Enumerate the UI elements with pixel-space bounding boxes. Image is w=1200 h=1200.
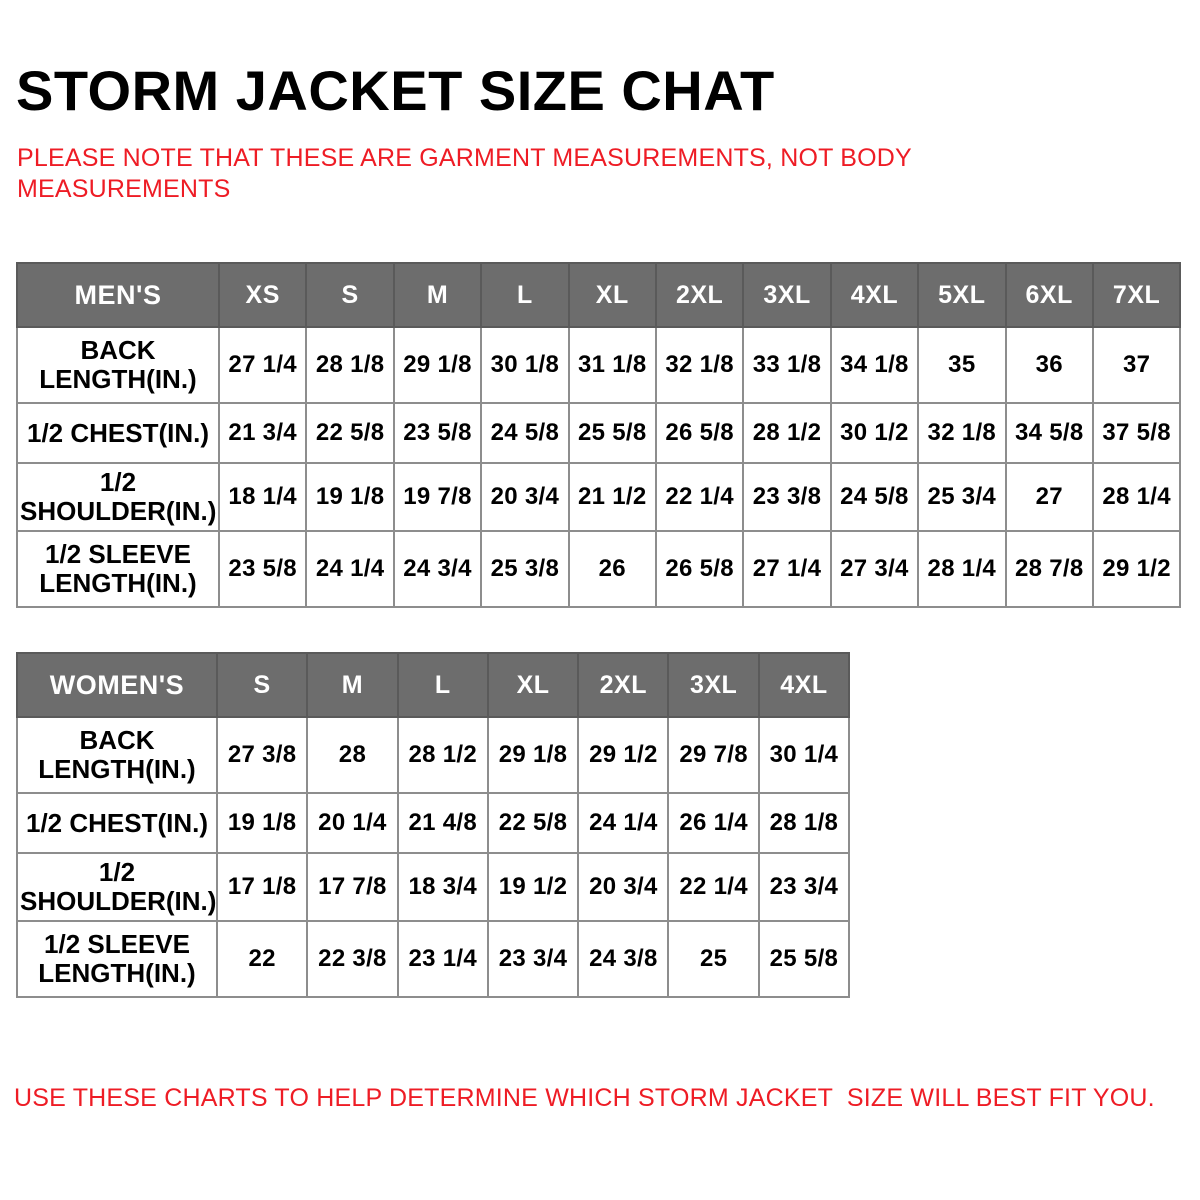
womens-size-header-3xl: 3XL — [668, 653, 758, 717]
measurement-cell: 25 5/8 — [569, 403, 656, 463]
measurement-cell: 26 — [569, 531, 656, 607]
measurement-cell: 28 1/8 — [306, 327, 393, 403]
measurement-cell: 30 1/8 — [481, 327, 568, 403]
mens-size-header-7xl: 7XL — [1093, 263, 1180, 327]
measurement-cell: 37 5/8 — [1093, 403, 1180, 463]
measurement-cell: 28 1/2 — [398, 717, 488, 793]
measurement-cell: 17 1/8 — [217, 853, 307, 921]
measurement-cell: 21 1/2 — [569, 463, 656, 531]
measurement-cell: 24 1/4 — [306, 531, 393, 607]
measurement-cell: 35 — [918, 327, 1005, 403]
womens-table-title: WOMEN'S — [17, 653, 217, 717]
measurement-cell: 18 3/4 — [398, 853, 488, 921]
table-row: BACK LENGTH(IN.)27 3/82828 1/229 1/829 1… — [17, 717, 849, 793]
mens-size-header-5xl: 5XL — [918, 263, 1005, 327]
mens-size-header-m: M — [394, 263, 481, 327]
mens-size-header-l: L — [481, 263, 568, 327]
measurement-cell: 28 — [307, 717, 397, 793]
measurement-cell: 23 3/4 — [488, 921, 578, 997]
measurement-cell: 30 1/4 — [759, 717, 849, 793]
measurement-cell: 20 1/4 — [307, 793, 397, 853]
measurement-cell: 23 3/4 — [759, 853, 849, 921]
table-row: 1/2 SHOULDER(IN.)17 1/817 7/818 3/419 1/… — [17, 853, 849, 921]
table-row: 1/2 CHEST(IN.)19 1/820 1/421 4/822 5/824… — [17, 793, 849, 853]
measurement-cell: 24 3/8 — [578, 921, 668, 997]
measurement-cell: 26 5/8 — [656, 403, 743, 463]
measurement-cell: 29 1/8 — [488, 717, 578, 793]
mens-row-label: BACK LENGTH(IN.) — [17, 327, 219, 403]
measurement-cell: 24 5/8 — [481, 403, 568, 463]
measurement-cell: 25 — [668, 921, 758, 997]
mens-size-table: MEN'SXSSMLXL2XL3XL4XL5XL6XL7XL BACK LENG… — [16, 262, 1181, 608]
measurement-cell: 17 7/8 — [307, 853, 397, 921]
mens-size-header-2xl: 2XL — [656, 263, 743, 327]
womens-size-table: WOMEN'SSMLXL2XL3XL4XL BACK LENGTH(IN.)27… — [16, 652, 850, 998]
measurement-cell: 22 — [217, 921, 307, 997]
measurement-cell: 21 4/8 — [398, 793, 488, 853]
measurement-cell: 28 1/8 — [759, 793, 849, 853]
measurement-cell: 28 7/8 — [1006, 531, 1093, 607]
measurement-cell: 18 1/4 — [219, 463, 306, 531]
womens-size-header-2xl: 2XL — [578, 653, 668, 717]
measurement-cell: 23 5/8 — [394, 403, 481, 463]
measurement-cell: 33 1/8 — [743, 327, 830, 403]
page-title: STORM JACKET SIZE CHAT — [16, 60, 775, 122]
measurement-cell: 20 3/4 — [578, 853, 668, 921]
mens-size-header-xs: XS — [219, 263, 306, 327]
measurement-cell: 34 5/8 — [1006, 403, 1093, 463]
measurement-cell: 19 1/8 — [306, 463, 393, 531]
mens-table-head: MEN'SXSSMLXL2XL3XL4XL5XL6XL7XL — [17, 263, 1180, 327]
measurement-cell: 21 3/4 — [219, 403, 306, 463]
measurement-cell: 22 5/8 — [306, 403, 393, 463]
measurement-cell: 22 1/4 — [656, 463, 743, 531]
table-row: BACK LENGTH(IN.)27 1/428 1/829 1/830 1/8… — [17, 327, 1180, 403]
garment-measurement-note: PLEASE NOTE THAT THESE ARE GARMENT MEASU… — [17, 143, 977, 205]
measurement-cell: 32 1/8 — [918, 403, 1005, 463]
measurement-cell: 28 1/4 — [918, 531, 1005, 607]
womens-row-label: BACK LENGTH(IN.) — [17, 717, 217, 793]
measurement-cell: 25 3/8 — [481, 531, 568, 607]
measurement-cell: 36 — [1006, 327, 1093, 403]
measurement-cell: 27 — [1006, 463, 1093, 531]
mens-row-label: 1/2 SHOULDER(IN.) — [17, 463, 219, 531]
mens-size-header-s: S — [306, 263, 393, 327]
womens-header-row: WOMEN'SSMLXL2XL3XL4XL — [17, 653, 849, 717]
measurement-cell: 19 7/8 — [394, 463, 481, 531]
mens-header-row: MEN'SXSSMLXL2XL3XL4XL5XL6XL7XL — [17, 263, 1180, 327]
measurement-cell: 23 5/8 — [219, 531, 306, 607]
womens-size-header-l: L — [398, 653, 488, 717]
measurement-cell: 20 3/4 — [481, 463, 568, 531]
measurement-cell: 37 — [1093, 327, 1180, 403]
measurement-cell: 24 3/4 — [394, 531, 481, 607]
mens-table-body: BACK LENGTH(IN.)27 1/428 1/829 1/830 1/8… — [17, 327, 1180, 607]
measurement-cell: 28 1/4 — [1093, 463, 1180, 531]
measurement-cell: 24 5/8 — [831, 463, 918, 531]
mens-size-header-4xl: 4XL — [831, 263, 918, 327]
womens-size-header-xl: XL — [488, 653, 578, 717]
measurement-cell: 22 5/8 — [488, 793, 578, 853]
measurement-cell: 25 3/4 — [918, 463, 1005, 531]
measurement-cell: 22 3/8 — [307, 921, 397, 997]
measurement-cell: 27 3/8 — [217, 717, 307, 793]
measurement-cell: 29 1/8 — [394, 327, 481, 403]
womens-row-label: 1/2 CHEST(IN.) — [17, 793, 217, 853]
measurement-cell: 26 5/8 — [656, 531, 743, 607]
table-row: 1/2 CHEST(IN.)21 3/422 5/823 5/824 5/825… — [17, 403, 1180, 463]
table-row: 1/2 SLEEVE LENGTH(IN.)2222 3/823 1/423 3… — [17, 921, 849, 997]
measurement-cell: 23 1/4 — [398, 921, 488, 997]
mens-size-header-6xl: 6XL — [1006, 263, 1093, 327]
womens-row-label: 1/2 SHOULDER(IN.) — [17, 853, 217, 921]
measurement-cell: 30 1/2 — [831, 403, 918, 463]
measurement-cell: 26 1/4 — [668, 793, 758, 853]
measurement-cell: 19 1/8 — [217, 793, 307, 853]
measurement-cell: 34 1/8 — [831, 327, 918, 403]
measurement-cell: 32 1/8 — [656, 327, 743, 403]
mens-size-header-3xl: 3XL — [743, 263, 830, 327]
measurement-cell: 22 1/4 — [668, 853, 758, 921]
measurement-cell: 27 3/4 — [831, 531, 918, 607]
measurement-cell: 19 1/2 — [488, 853, 578, 921]
measurement-cell: 25 5/8 — [759, 921, 849, 997]
womens-size-header-s: S — [217, 653, 307, 717]
measurement-cell: 29 1/2 — [578, 717, 668, 793]
table-row: 1/2 SLEEVE LENGTH(IN.)23 5/824 1/424 3/4… — [17, 531, 1180, 607]
measurement-cell: 27 1/4 — [743, 531, 830, 607]
measurement-cell: 24 1/4 — [578, 793, 668, 853]
mens-table-title: MEN'S — [17, 263, 219, 327]
measurement-cell: 27 1/4 — [219, 327, 306, 403]
womens-size-header-4xl: 4XL — [759, 653, 849, 717]
help-determine-size-note: USE THESE CHARTS TO HELP DETERMINE WHICH… — [14, 1083, 1174, 1113]
mens-row-label: 1/2 CHEST(IN.) — [17, 403, 219, 463]
table-row: 1/2 SHOULDER(IN.)18 1/419 1/819 7/820 3/… — [17, 463, 1180, 531]
womens-table-head: WOMEN'SSMLXL2XL3XL4XL — [17, 653, 849, 717]
mens-row-label: 1/2 SLEEVE LENGTH(IN.) — [17, 531, 219, 607]
size-chart-page: STORM JACKET SIZE CHAT PLEASE NOTE THAT … — [0, 0, 1200, 1200]
womens-table-body: BACK LENGTH(IN.)27 3/82828 1/229 1/829 1… — [17, 717, 849, 997]
measurement-cell: 29 1/2 — [1093, 531, 1180, 607]
measurement-cell: 23 3/8 — [743, 463, 830, 531]
measurement-cell: 28 1/2 — [743, 403, 830, 463]
mens-size-header-xl: XL — [569, 263, 656, 327]
measurement-cell: 31 1/8 — [569, 327, 656, 403]
womens-size-header-m: M — [307, 653, 397, 717]
womens-row-label: 1/2 SLEEVE LENGTH(IN.) — [17, 921, 217, 997]
measurement-cell: 29 7/8 — [668, 717, 758, 793]
